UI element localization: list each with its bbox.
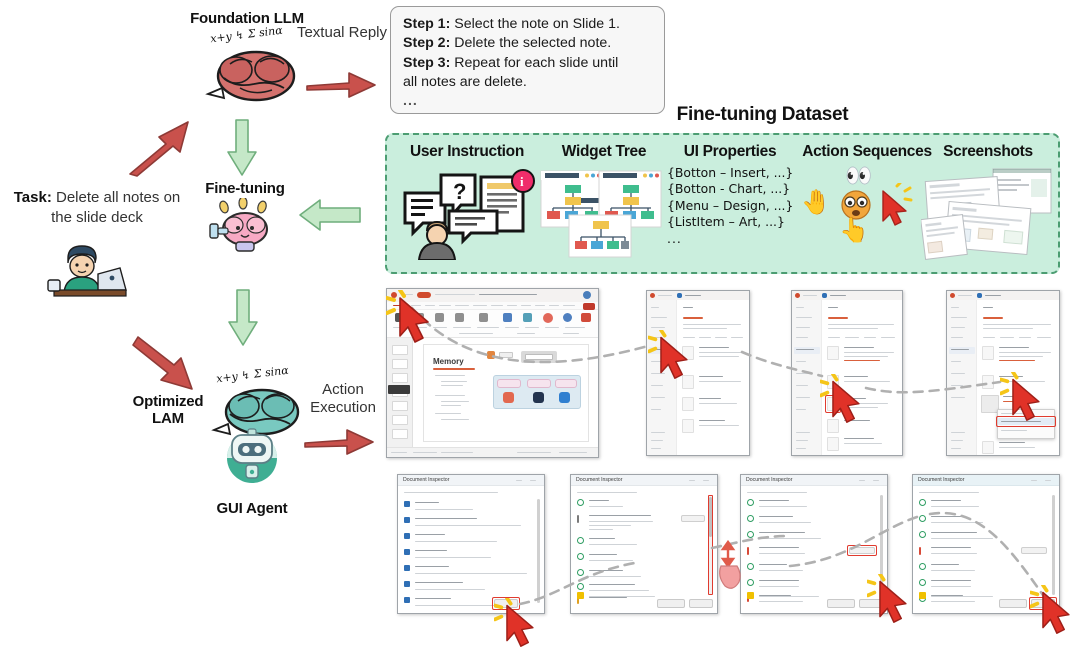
task-prefix: Task:: [14, 189, 52, 206]
dialog-title: Document Inspector: [576, 477, 622, 483]
cursor-click-inspect-button: [494, 598, 544, 650]
step-key: Step 3:: [403, 55, 450, 71]
ui-property-item: {ListItem – Art, ...}: [667, 214, 795, 230]
fine-tuning-dataset-panel: User Instruction ? i: [385, 133, 1060, 274]
cursor-click-ppt-home: [386, 290, 440, 346]
user-at-laptop-icon: [46, 240, 132, 302]
screenshot-document-inspector-3[interactable]: Document Inspector: [740, 474, 888, 614]
dataset-to-finetuning-arrow-icon: [298, 198, 362, 232]
ui-property-item: {Botton - Chart, ...}: [667, 181, 795, 197]
ui-property-ellipsis: ...: [667, 231, 795, 247]
surprised-face-icon: [839, 187, 873, 221]
textual-reply-step-box: Step 1: Select the note on Slide 1. Step…: [390, 6, 665, 114]
speech-bubbles-user-icon: ? i: [393, 165, 541, 260]
reinspect-button[interactable]: [657, 599, 685, 608]
dataset-column-ui-properties: UI Properties {Botton – Insert, ...} {Bo…: [665, 143, 795, 247]
step-ellipsis: ...: [403, 92, 654, 111]
pinching-hand-icon: 🤚: [801, 191, 831, 215]
step-text: Repeat for each slide until: [454, 55, 618, 71]
task-to-lam-arrow-icon: [130, 333, 200, 395]
dataset-column-heading: User Instruction: [393, 143, 541, 161]
screenshot-document-inspector-1[interactable]: Document Inspector: [397, 474, 545, 614]
task-body: Delete all notes on the slide deck: [51, 189, 180, 226]
close-button[interactable]: [689, 599, 713, 608]
llm-to-finetuning-arrow-icon: [225, 118, 259, 178]
fine-tuning-dataset-title: Fine-tuning Dataset: [655, 104, 870, 126]
screenshot-stack-icon: [921, 165, 1055, 260]
pointing-finger-icon: 👆: [839, 219, 869, 243]
step-text: Delete the selected note.: [454, 35, 611, 51]
ui-property-item: {Menu – Design, ...}: [667, 198, 795, 214]
step-row: Step 1: Select the note on Slide 1.: [403, 15, 654, 34]
cursor-click-close: [1030, 585, 1080, 637]
textual-reply-arrow-icon: [305, 68, 377, 102]
task-description: Task: Delete all notes on the slide deck: [2, 188, 192, 227]
step-text: Select the note on Slide 1.: [454, 16, 620, 32]
dataset-column-heading: Screenshots: [921, 143, 1055, 161]
fine-tuning-brain-icon: [208, 198, 282, 254]
dialog-title: Document Inspector: [746, 477, 792, 483]
dataset-column-user-instruction: User Instruction ? i: [393, 143, 541, 260]
step-row: Step 3: Repeat for each slide until: [403, 54, 654, 73]
widget-tree-icon: [539, 165, 669, 260]
optimized-lam-text: Optimized LAM: [133, 393, 204, 427]
gui-agent-label: GUI Agent: [192, 500, 312, 517]
step-key: Step 1:: [403, 16, 450, 32]
dataset-column-heading: Widget Tree: [539, 143, 669, 161]
remove-all-button[interactable]: [681, 515, 705, 522]
dataset-column-screenshots: Screenshots: [921, 143, 1055, 260]
screenshot-document-inspector-2[interactable]: Document Inspector: [570, 474, 718, 614]
foundation-llm-brain-icon: x+y ↯ Σ sinα: [196, 28, 306, 108]
svg-text:i: i: [520, 174, 524, 189]
task-to-llm-arrow-icon: [126, 116, 196, 178]
dialog-title: Document Inspector: [403, 477, 449, 483]
reinspect-button[interactable]: [827, 599, 855, 608]
mouse-cursor-click-icon: [873, 183, 915, 227]
reinspect-button[interactable]: [999, 599, 1027, 608]
cursor-click-inspect-document: [1000, 372, 1050, 424]
fine-tuning-label: Fine-tuning: [180, 180, 310, 197]
gui-agent-robot-icon: [222, 425, 282, 485]
action-execution-arrow-icon: [303, 425, 375, 459]
dataset-column-heading: UI Properties: [665, 143, 795, 161]
remove-all-button[interactable]: [1021, 547, 1047, 554]
svg-text:?: ?: [453, 179, 466, 204]
cursor-click-remove-all: [867, 574, 917, 626]
cursor-scroll-down: [713, 540, 743, 590]
action-execution-label: Action Execution: [297, 381, 389, 417]
ui-properties-list: {Botton – Insert, ...} {Botton - Chart, …: [665, 165, 795, 247]
eyes-icon: 👀: [845, 165, 872, 187]
cursor-click-info-tab: [648, 330, 698, 382]
cursor-click-check-issues: [820, 374, 870, 426]
dialog-title: Document Inspector: [918, 477, 964, 483]
screenshot-backstage-info-2[interactable]: [791, 290, 903, 456]
slide-title-text: Memory: [433, 357, 464, 366]
highlight-box: [847, 545, 877, 556]
step-continuation: all notes are delete.: [403, 73, 654, 92]
textual-reply-label: Textual Reply: [296, 24, 388, 42]
step-row: Step 2: Delete the selected note.: [403, 34, 654, 53]
ui-property-item: {Botton – Insert, ...}: [667, 165, 795, 181]
dataset-column-widget-tree: Widget Tree: [539, 143, 669, 260]
finetuning-to-lam-arrow-icon: [226, 288, 260, 348]
step-key: Step 2:: [403, 35, 450, 51]
